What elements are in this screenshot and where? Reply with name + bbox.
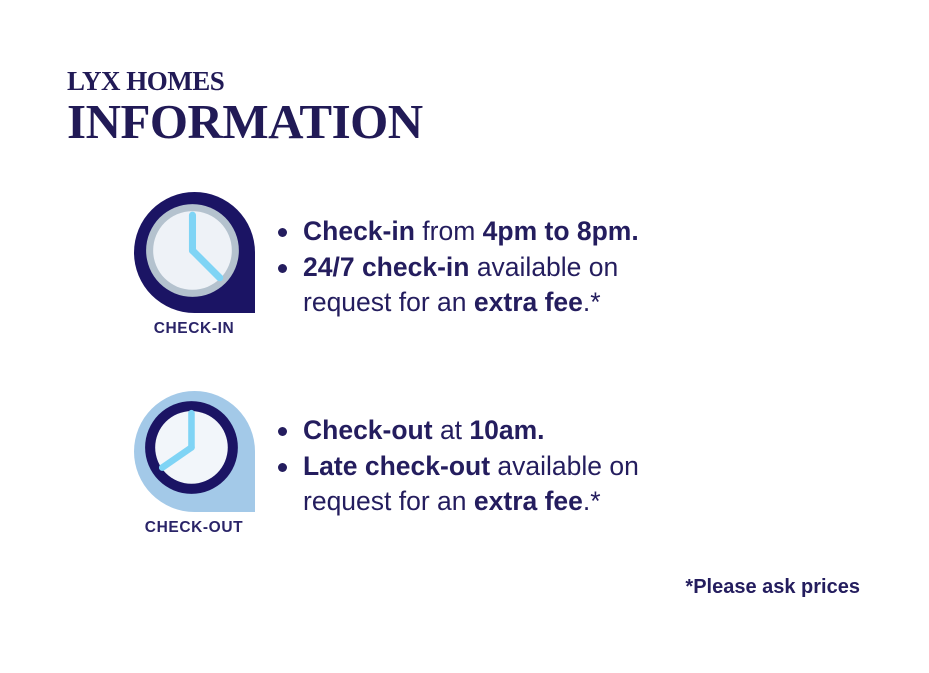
check-out-bullet-list: Check-out at 10am. Late check-out availa… xyxy=(278,391,639,520)
bullet-dot-icon xyxy=(278,228,287,237)
bullet-dot-icon xyxy=(278,427,287,436)
list-item-continuation: request for an extra fee.* xyxy=(278,285,639,321)
check-in-icon-block: CHECK-IN xyxy=(130,192,258,338)
check-in-icon-label: CHECK-IN xyxy=(154,320,235,338)
bullet-dot-icon xyxy=(278,264,287,273)
footnote-please-ask-prices: *Please ask prices xyxy=(685,576,860,599)
list-item: Check-out at 10am. xyxy=(278,413,639,449)
page-title: INFORMATION xyxy=(67,97,423,147)
check-in-bullet-list: Check-in from 4pm to 8pm. 24/7 check-in … xyxy=(278,192,639,321)
bullet-text: request for an extra fee.* xyxy=(303,484,601,520)
list-item: Late check-out available on xyxy=(278,449,639,485)
list-item: 24/7 check-in available on xyxy=(278,250,639,286)
check-in-clock-pin-icon xyxy=(134,192,255,313)
bullet-text: Check-in from 4pm to 8pm. xyxy=(303,214,639,250)
info-section-check-out: CHECK-OUT Check-out at 10am. Late check-… xyxy=(130,391,639,537)
bullet-dot-icon xyxy=(278,463,287,472)
bullet-text: Late check-out available on xyxy=(303,449,639,485)
brand-name: LYX HOMES xyxy=(67,68,423,95)
bullet-indent-spacer xyxy=(278,498,287,507)
page-header: LYX HOMES INFORMATION xyxy=(67,68,423,147)
bullet-indent-spacer xyxy=(278,299,287,308)
info-section-check-in: CHECK-IN Check-in from 4pm to 8pm. 24/7 … xyxy=(130,192,639,338)
bullet-text: request for an extra fee.* xyxy=(303,285,601,321)
list-item: Check-in from 4pm to 8pm. xyxy=(278,214,639,250)
bullet-text: 24/7 check-in available on xyxy=(303,250,618,286)
list-item-continuation: request for an extra fee.* xyxy=(278,484,639,520)
check-out-clock-pin-icon xyxy=(134,391,255,512)
check-out-icon-label: CHECK-OUT xyxy=(145,519,243,537)
check-out-icon-block: CHECK-OUT xyxy=(130,391,258,537)
bullet-text: Check-out at 10am. xyxy=(303,413,545,449)
